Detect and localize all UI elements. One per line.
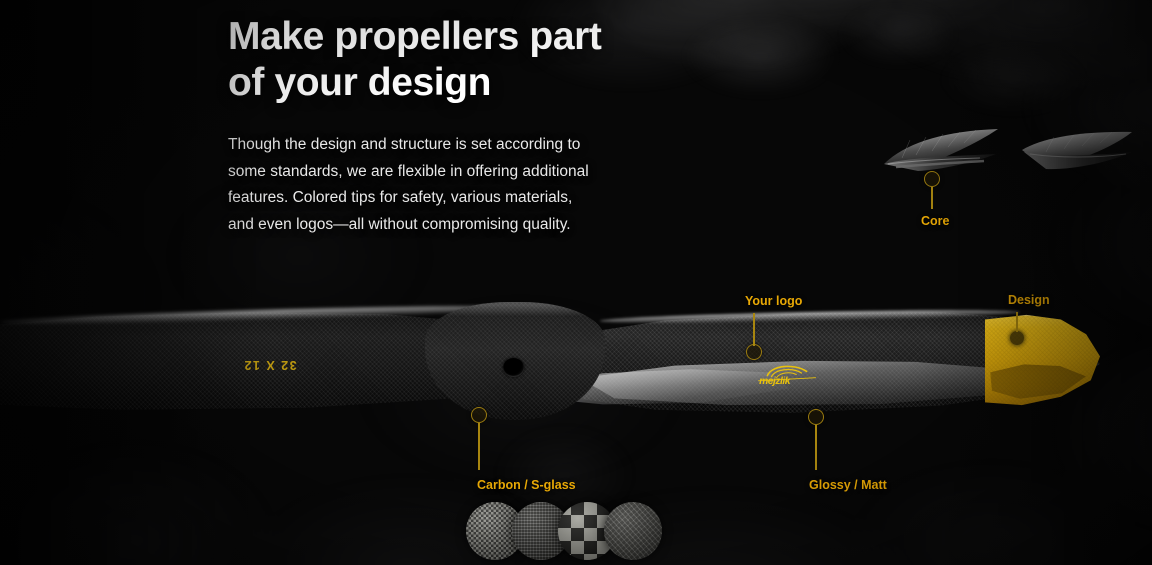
- vignette-overlay: [0, 0, 1152, 565]
- hero-section: Make propellers part of your design Thou…: [0, 0, 1152, 565]
